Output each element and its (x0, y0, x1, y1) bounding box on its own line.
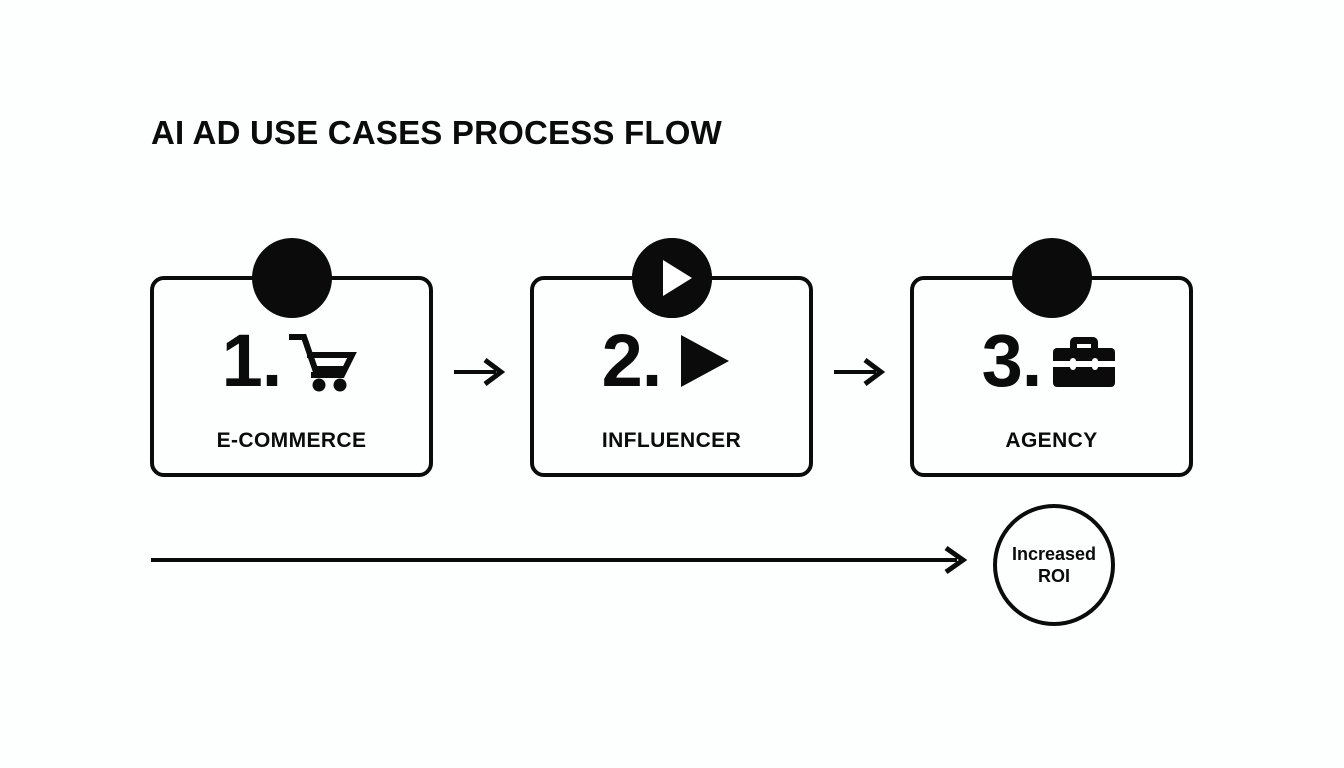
play-triangle-icon (667, 324, 741, 398)
briefcase-icon (1047, 324, 1121, 398)
outcome-line-2: ROI (1038, 565, 1070, 588)
play-circle-badge (632, 238, 712, 318)
process-step-card-3[interactable]: 3. AGENCY (910, 276, 1193, 477)
step-number: 2. (602, 328, 662, 395)
arrow-right-icon (452, 352, 508, 392)
process-step-card-1[interactable]: 1. E-COMMERCE (150, 276, 433, 477)
diagram-canvas: AI AD USE CASES PROCESS FLOW 1. E-COMMER… (0, 0, 1344, 768)
process-step-card-2[interactable]: 2. INFLUENCER (530, 276, 813, 477)
step-number: 1. (222, 328, 282, 395)
outcome-badge[interactable]: Increased ROI (993, 504, 1115, 626)
step-label: E-COMMERCE (154, 429, 429, 453)
step-2-content: 2. (534, 318, 809, 404)
long-arrow-right-icon (149, 540, 971, 580)
step-1-content: 1. (154, 318, 429, 404)
shopping-cart-icon (287, 324, 361, 398)
step-label: INFLUENCER (534, 429, 809, 453)
step-3-content: 3. (914, 318, 1189, 404)
arrow-right-icon (832, 352, 888, 392)
page-title: AI AD USE CASES PROCESS FLOW (151, 114, 722, 152)
filled-circle-badge (1012, 238, 1092, 318)
outcome-line-1: Increased (1012, 543, 1096, 566)
filled-circle-badge (252, 238, 332, 318)
step-number: 3. (982, 328, 1042, 395)
step-label: AGENCY (914, 429, 1189, 453)
